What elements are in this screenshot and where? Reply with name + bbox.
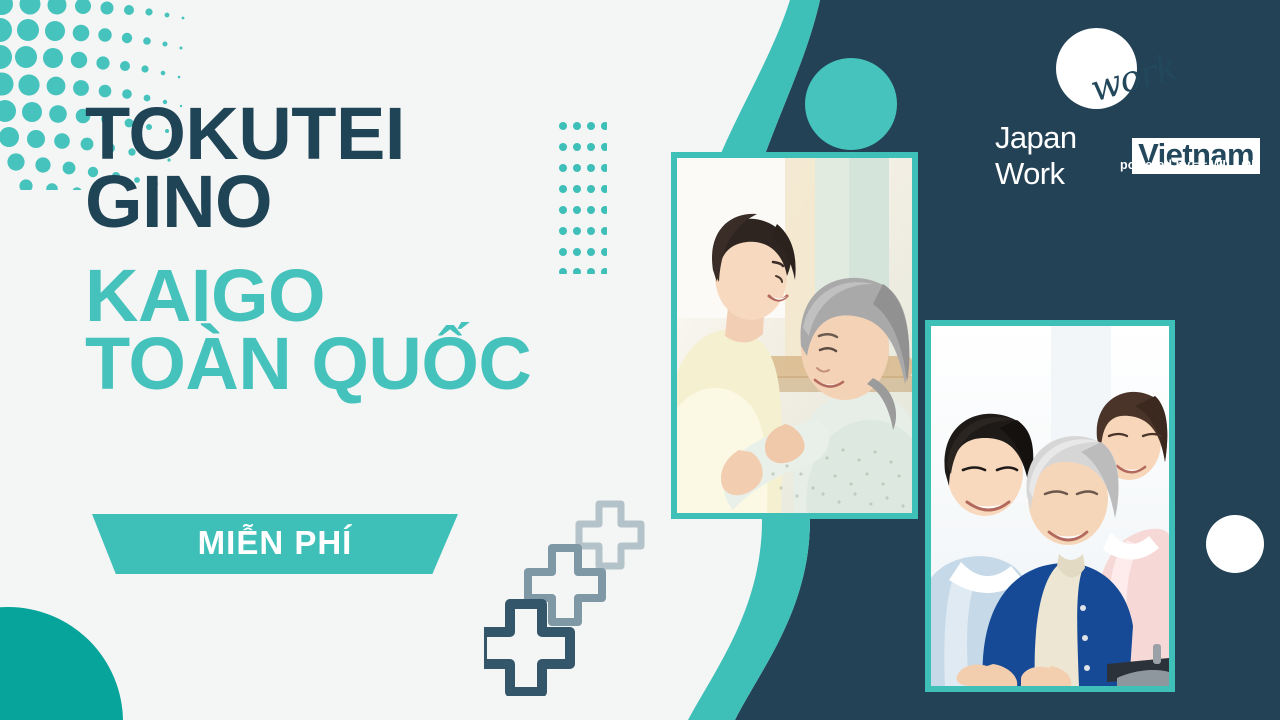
free-badge-label: MIỄN PHÍ	[92, 514, 458, 574]
promo-banner: TOKUTEI GINO KAIGO TOÀN QUỐC MIỄN PHÍ	[0, 0, 1280, 720]
plus-icon-large	[484, 604, 570, 692]
logo-brand-left: Japan Work	[995, 120, 1128, 192]
headline-line-2: GINO	[85, 168, 645, 236]
caregiver-and-elderly-woman-photo	[671, 152, 918, 519]
powered-by-label: powered by	[1120, 158, 1190, 172]
headline-line-1: TOKUTEI	[85, 100, 645, 168]
plus-icon-small	[579, 504, 641, 566]
headline-line-4: TOÀN QUỐC	[85, 330, 645, 398]
free-badge: MIỄN PHÍ	[92, 514, 458, 574]
logo-wordmark-row: Japan Work Vietnam	[995, 120, 1260, 192]
partner-name: WILLOF	[1210, 158, 1259, 172]
logo-powered-by: powered by WILLOF	[1120, 158, 1259, 172]
headline-block: TOKUTEI GINO KAIGO TOÀN QUỐC	[85, 100, 645, 398]
plus-icons-cluster	[484, 496, 654, 696]
care-team-with-elderly-woman-photo	[925, 320, 1175, 692]
headline-line-3: KAIGO	[85, 262, 645, 330]
photo-2-artwork	[931, 326, 1169, 686]
willof-lines-icon	[1193, 162, 1207, 171]
teal-circle-top	[805, 58, 897, 150]
photo-1-artwork	[677, 158, 912, 513]
japan-work-vietnam-logo: work Japan Work Vietnam powered by WILLO…	[995, 28, 1260, 173]
teal-circle-bottom-left	[0, 607, 123, 720]
white-circle-bottom	[1206, 515, 1264, 573]
